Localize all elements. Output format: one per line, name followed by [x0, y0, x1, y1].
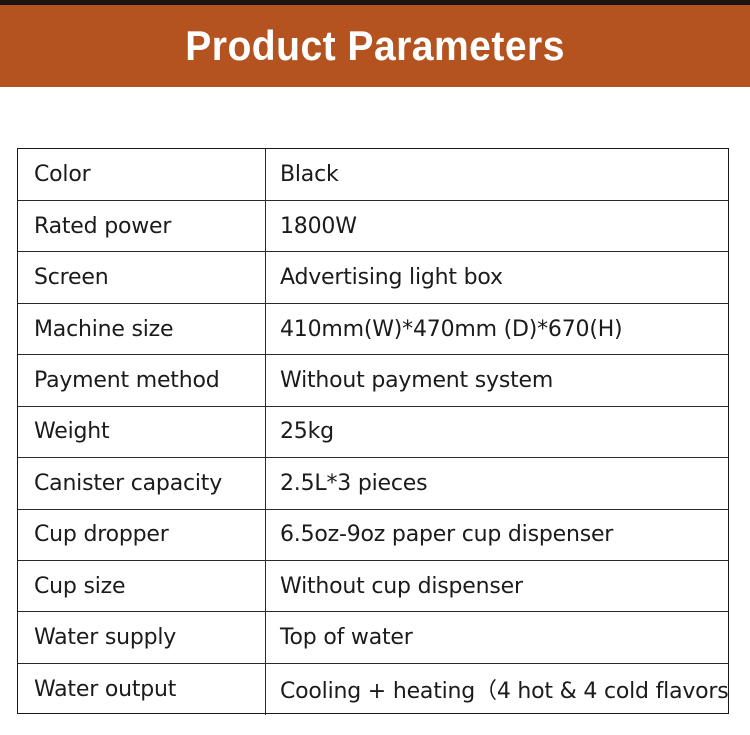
table-row: Cup size Without cup dispenser: [18, 561, 728, 612]
param-value: Top of water: [266, 612, 729, 663]
param-value: 25kg: [266, 406, 729, 457]
table-row: Machine size 410mm(W)*470mm (D)*670(H): [18, 303, 728, 354]
table-row: Cup dropper 6.5oz-9oz paper cup dispense…: [18, 509, 728, 560]
param-label: Weight: [18, 406, 266, 457]
table-row: Color Black: [18, 149, 728, 200]
param-label: Screen: [18, 252, 266, 303]
product-parameters-banner: Product Parameters: [0, 5, 750, 87]
param-value: Black: [266, 149, 729, 200]
spec-table-body: Color Black Rated power 1800W Screen Adv…: [18, 149, 728, 715]
param-value: 6.5oz-9oz paper cup dispenser: [266, 509, 729, 560]
param-value: 2.5L*3 pieces: [266, 458, 729, 509]
param-value: 1800W: [266, 200, 729, 251]
param-label: Machine size: [18, 303, 266, 354]
table-row: Screen Advertising light box: [18, 252, 728, 303]
param-label: Color: [18, 149, 266, 200]
param-value: Cooling + heating（4 hot & 4 cold flavors…: [266, 663, 729, 714]
param-label: Cup size: [18, 561, 266, 612]
product-parameters-table: Color Black Rated power 1800W Screen Adv…: [17, 148, 729, 714]
param-value: 410mm(W)*470mm (D)*670(H): [266, 303, 729, 354]
page-title: Product Parameters: [185, 25, 565, 67]
param-label: Canister capacity: [18, 458, 266, 509]
table-row: Payment method Without payment system: [18, 355, 728, 406]
param-value: Advertising light box: [266, 252, 729, 303]
table-row: Rated power 1800W: [18, 200, 728, 251]
param-value: Without cup dispenser: [266, 561, 729, 612]
table-row: Water supply Top of water: [18, 612, 728, 663]
table-row: Water output Cooling + heating（4 hot & 4…: [18, 663, 728, 714]
param-label: Cup dropper: [18, 509, 266, 560]
param-label: Payment method: [18, 355, 266, 406]
param-label: Water output: [18, 663, 266, 714]
param-label: Rated power: [18, 200, 266, 251]
table-row: Weight 25kg: [18, 406, 728, 457]
table-row: Canister capacity 2.5L*3 pieces: [18, 458, 728, 509]
param-label: Water supply: [18, 612, 266, 663]
param-value: Without payment system: [266, 355, 729, 406]
